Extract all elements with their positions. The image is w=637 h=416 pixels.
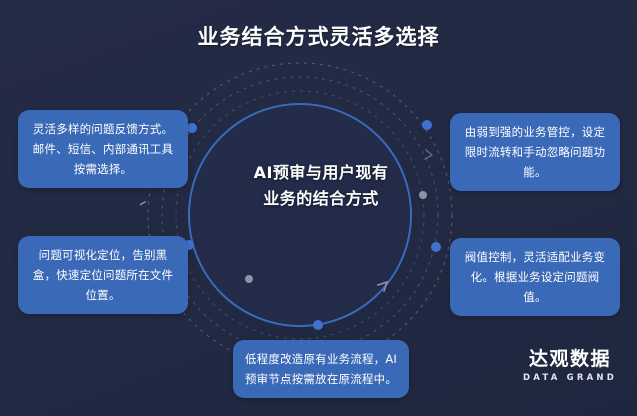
center-headline: AI预审与用户现有 业务的结合方式 <box>218 160 424 212</box>
brand-logo: 达观数据 DATA GRAND <box>518 348 622 383</box>
concentric-rings-decoration <box>140 55 460 375</box>
callout-issue-visualization[interactable]: 问题可视化定位，告别黑盒，快速定位问题所在文件位置。 <box>18 236 188 314</box>
ring-solid-accent <box>189 104 411 326</box>
ring-inner-fill <box>190 105 410 325</box>
ring-arrow-left <box>140 197 145 206</box>
callout-feedback-methods[interactable]: 灵活多样的问题反馈方式。邮件、短信、内部通讯工具按需选择。 <box>18 110 188 188</box>
ring-middle-dashed <box>162 77 438 353</box>
ring-arrow-upper-right <box>425 150 432 159</box>
brand-logo-en: DATA GRAND <box>518 373 622 383</box>
callout-business-control[interactable]: 由弱到强的业务管控，设定限时流转和手动忽略问题功能。 <box>450 113 620 191</box>
ring-outer-dashed <box>148 63 452 367</box>
decor-dot-lower-gray <box>245 275 253 283</box>
brand-logo-cn: 达观数据 <box>518 348 622 370</box>
callout-low-impact-process[interactable]: 低程度改造原有业务流程，AI预审节点按需放在原流程中。 <box>233 340 409 398</box>
slide-canvas: 业务结合方式灵活多选择 AI预审与用户现有 业务的结合方式 灵活多样的问题反馈方… <box>0 0 637 416</box>
page-title: 业务结合方式灵活多选择 <box>0 21 637 51</box>
callout-threshold-control[interactable]: 阀值控制，灵活适配业务变化。根据业务设定问题阀值。 <box>450 238 620 316</box>
decor-dot-upper-right <box>422 120 432 130</box>
decor-dot-bottom <box>313 320 323 330</box>
center-headline-line2: 业务的结合方式 <box>218 186 424 212</box>
ring-inner-dashed <box>176 91 424 339</box>
ring-arrow-bottom-right <box>378 282 387 291</box>
center-headline-line1: AI预审与用户现有 <box>254 163 389 182</box>
decor-dot-upper-left <box>187 123 197 133</box>
decor-dot-lower-right <box>431 242 441 252</box>
